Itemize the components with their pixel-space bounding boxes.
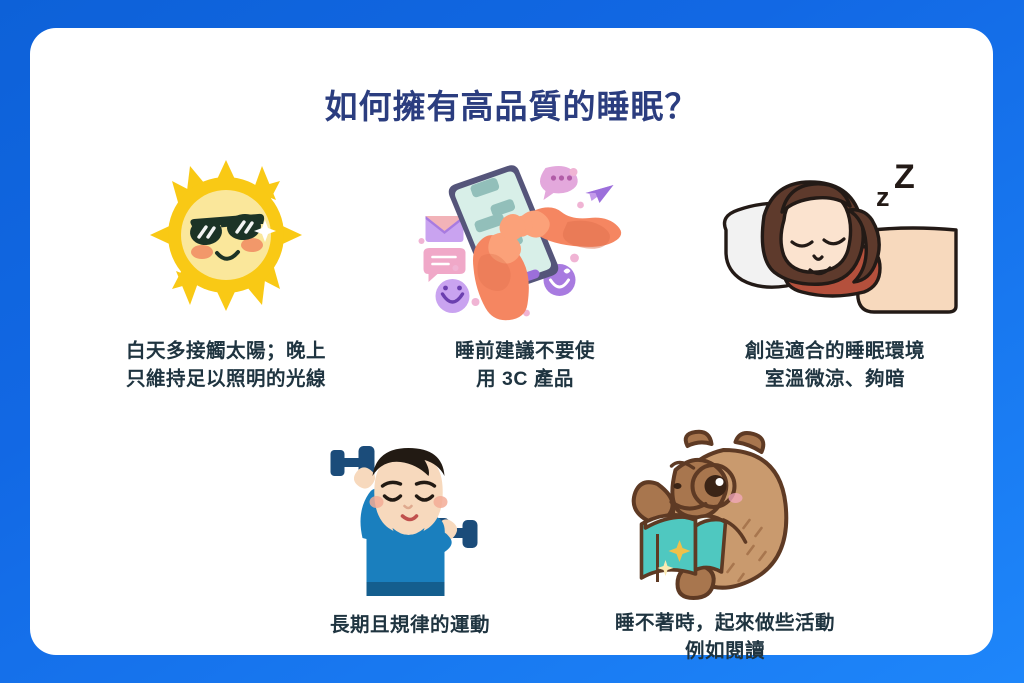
man-exercising-illustration	[285, 428, 535, 603]
girl-sleeping-on-pillow-icon: z Z	[710, 148, 960, 323]
hands-holding-smartphone-icon	[418, 148, 633, 323]
caption-line-2: 用 3C 產品	[390, 365, 660, 393]
hands-holding-smartphone-illustration	[390, 148, 660, 323]
caption-line-2: 例如閱讀	[560, 637, 890, 665]
sun-with-sunglasses-illustration	[76, 148, 376, 323]
caption-line-2: 只維持足以照明的光線	[76, 365, 376, 393]
tip-item-sunlight: 白天多接觸太陽；晚上 只維持足以照明的光線	[76, 148, 376, 394]
svg-text:Z: Z	[894, 158, 915, 196]
girl-sleeping-illustration: z Z	[680, 148, 990, 323]
tip-caption-regular-exercise: 長期且規律的運動	[285, 603, 535, 639]
caption-line-1: 創造適合的睡眠環境	[680, 337, 990, 365]
caption-line-1: 睡不著時，起來做些活動	[560, 609, 890, 637]
tip-item-get-up-and-read: 睡不著時，起來做些活動 例如閱讀	[560, 428, 890, 666]
tip-item-no-screens: 睡前建議不要使 用 3C 產品	[390, 148, 660, 394]
tip-caption-sunlight: 白天多接觸太陽；晚上 只維持足以照明的光線	[76, 323, 376, 394]
caption-line-1: 白天多接觸太陽；晚上	[76, 337, 376, 365]
caption-line-2: 室溫微涼、夠暗	[680, 365, 990, 393]
tip-caption-sleep-environment: 創造適合的睡眠環境 室溫微涼、夠暗	[680, 323, 990, 394]
svg-text:z: z	[876, 182, 890, 212]
sun-with-sunglasses-icon	[126, 148, 326, 323]
zzz-label: z Z	[876, 158, 915, 212]
page-title: 如何擁有高品質的睡眠？	[30, 80, 993, 128]
infographic-poster: 如何擁有高品質的睡眠？	[0, 0, 1024, 683]
caption-line-1: 睡前建議不要使	[390, 337, 660, 365]
man-lifting-dumbbells-icon	[323, 428, 498, 603]
tip-caption-get-up-and-read: 睡不著時，起來做些活動 例如閱讀	[560, 603, 890, 666]
content-card: 如何擁有高品質的睡眠？	[30, 28, 993, 655]
tip-caption-no-screens: 睡前建議不要使 用 3C 產品	[390, 323, 660, 394]
tip-item-regular-exercise: 長期且規律的運動	[285, 428, 535, 639]
capybara-reading-book-icon	[628, 428, 823, 603]
capybara-reading-illustration	[560, 428, 890, 603]
tip-item-sleep-environment: z Z 創造適合的睡眠環境 室溫微涼、夠暗	[680, 148, 990, 394]
caption-line-1: 長期且規律的運動	[285, 611, 535, 639]
